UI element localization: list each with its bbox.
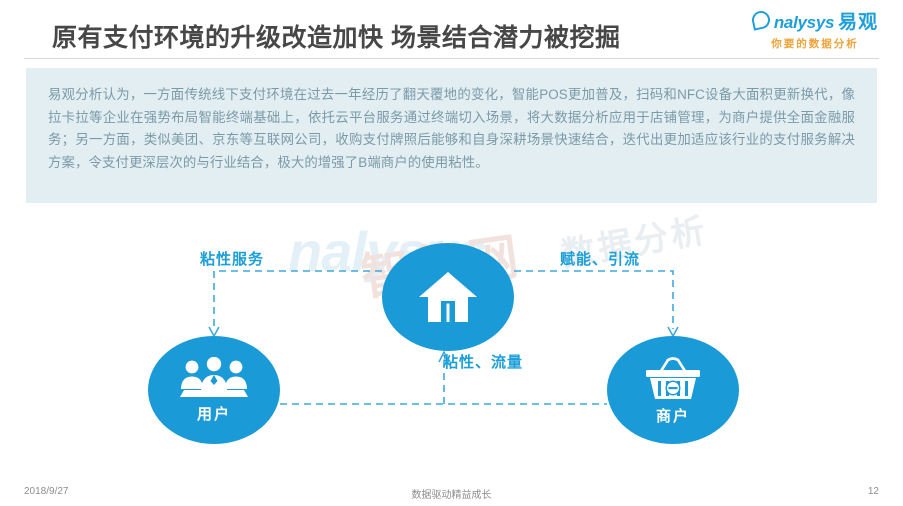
title-divider bbox=[24, 58, 879, 59]
analysys-logo: nalysys 易观 你要的数据分析 bbox=[749, 10, 881, 51]
page-title: 原有支付环境的升级改造加快 场景结合潜力被挖掘 bbox=[52, 18, 620, 54]
logo-tagline: 你要的数据分析 bbox=[749, 36, 881, 51]
connector-right-path bbox=[514, 271, 673, 329]
logo-chinese-text: 易观 bbox=[838, 13, 878, 32]
diagram-node-user-label: 用户 bbox=[197, 403, 231, 424]
diagram-node-house[interactable] bbox=[382, 243, 514, 351]
footer-slogan: 数据驱动精益成长 bbox=[0, 486, 903, 501]
connector-left-path bbox=[214, 271, 382, 329]
page-footer: 2018/9/27 数据驱动精益成长 12 bbox=[0, 466, 903, 506]
connector-label-left: 粘性服务 bbox=[200, 248, 264, 269]
relationship-diagram: nalysys 智能网 数据分析 粘性服务 赋能、引流 粘性、流量 bbox=[0, 205, 903, 460]
users-icon bbox=[178, 357, 250, 401]
house-icon bbox=[416, 268, 480, 326]
connector-left-arrow bbox=[209, 327, 219, 336]
page-header: 原有支付环境的升级改造加快 场景结合潜力被挖掘 nalysys 易观 你要的数据… bbox=[0, 0, 903, 60]
summary-panel: 易观分析认为，一方面传统线下支付环境在过去一年经历了翻天覆地的变化，智能POS更… bbox=[26, 68, 877, 203]
basket-icon bbox=[643, 355, 703, 403]
connector-label-center: 粘性、流量 bbox=[443, 351, 523, 372]
diagram-node-merchant-label: 商户 bbox=[656, 405, 690, 426]
diagram-node-merchant[interactable]: 商户 bbox=[607, 336, 739, 444]
logo-latin-text: nalysys bbox=[774, 14, 834, 31]
summary-text: 易观分析认为，一方面传统线下支付环境在过去一年经历了翻天覆地的变化，智能POS更… bbox=[48, 84, 855, 174]
diagram-node-user[interactable]: 用户 bbox=[148, 336, 280, 444]
footer-page-number: 12 bbox=[868, 486, 879, 497]
analysys-drop-icon bbox=[750, 9, 771, 30]
logo-wordmark: nalysys 易观 bbox=[749, 10, 881, 32]
connector-label-right: 赋能、引流 bbox=[560, 248, 640, 269]
